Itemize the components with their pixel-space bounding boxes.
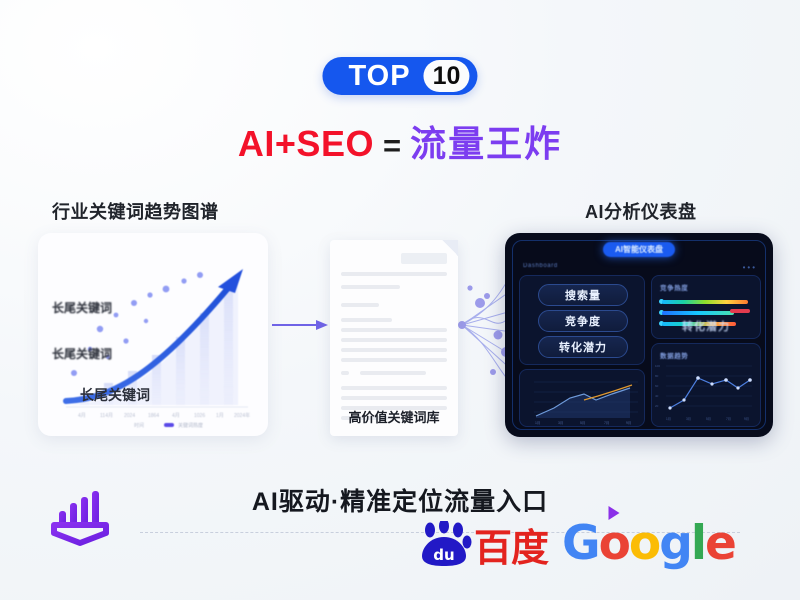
- svg-text:1月: 1月: [535, 421, 540, 425]
- baidu-logo: du 百度: [418, 521, 548, 567]
- top-badge-word: TOP: [348, 62, 423, 91]
- gauge-alert-chip: [730, 309, 750, 313]
- headline-left: AI+SEO: [238, 123, 374, 164]
- line-panel-title: 数据趋势: [660, 350, 688, 360]
- svg-text:9月: 9月: [744, 417, 749, 421]
- keyword-library-doc-card: 高价值关键词库: [330, 240, 458, 436]
- metric-pill-competition[interactable]: 竞争度: [538, 310, 628, 332]
- doc-skeleton-lines: [341, 272, 447, 426]
- google-letter-o1-wrap: o: [599, 520, 629, 567]
- metric-pills-panel: 搜索量 竞争度 转化潜力: [519, 275, 645, 365]
- gauge-bar-2: [662, 311, 734, 315]
- svg-text:80: 80: [655, 374, 659, 378]
- svg-text:100: 100: [655, 364, 660, 368]
- dashboard-brand-label: Dashboard: [523, 263, 558, 269]
- svg-text:关键词热度: 关键词热度: [178, 422, 203, 429]
- right-section-caption: AI分析仪表盘: [585, 198, 697, 224]
- search-engine-logos: du 百度 G o o g l e: [418, 520, 735, 567]
- arrow-chart-to-doc: [272, 320, 328, 330]
- play-triangle-icon: [608, 506, 619, 520]
- trend-chart-graphic: 4月114月 20241864 4月1026 1月2024年 时间 关键词热度: [38, 233, 268, 436]
- google-letter-g: g: [659, 520, 691, 567]
- svg-text:7月: 7月: [726, 417, 731, 421]
- metric-pill-search-volume[interactable]: 搜索量: [538, 284, 628, 306]
- keyword-label: 长尾关键词: [80, 385, 150, 405]
- dashboard-title-badge: AI智能仪表盘: [603, 242, 675, 257]
- svg-text:5月: 5月: [706, 417, 711, 421]
- svg-text:1864: 1864: [148, 413, 159, 419]
- svg-text:40: 40: [655, 394, 659, 398]
- google-letter-e: e: [705, 520, 735, 567]
- traffic-trend-panel: 1月3月 5月7月9月: [519, 369, 645, 427]
- svg-text:5月: 5月: [580, 421, 585, 425]
- headline-equals: =: [374, 128, 410, 163]
- svg-text:时间: 时间: [134, 422, 144, 429]
- left-section-caption: 行业关键词趋势图谱: [52, 198, 219, 224]
- svg-text:9月: 9月: [626, 421, 631, 425]
- metric-pill-conversion[interactable]: 转化潜力: [538, 336, 628, 358]
- svg-text:4月: 4月: [78, 413, 86, 419]
- baidu-paw-icon: du: [418, 521, 472, 567]
- gauge-panel-title: 竞争热度: [660, 282, 688, 292]
- doc-card-caption: 高价值关键词库: [330, 407, 458, 426]
- svg-text:114月: 114月: [100, 413, 113, 419]
- competition-gauge-panel: 竞争热度 转化潜力: [651, 275, 761, 339]
- google-letter-G: G: [562, 520, 599, 567]
- svg-text:4月: 4月: [172, 413, 180, 419]
- headline-right: 流量王炸: [410, 123, 562, 164]
- top-rank-badge: TOP 10: [322, 57, 477, 95]
- svg-text:60: 60: [655, 384, 659, 388]
- keyword-trend-chart-card: 4月114月 20241864 4月1026 1月2024年 时间 关键词热度 …: [38, 233, 268, 436]
- svg-text:3月: 3月: [558, 421, 563, 425]
- google-logo: G o o g l e: [562, 520, 735, 567]
- svg-text:7月: 7月: [604, 421, 609, 425]
- ai-dashboard-card: AI智能仪表盘 Dashboard ••• 搜索量 竞争度 转化潜力 1月3月 …: [505, 233, 773, 437]
- svg-text:2024年: 2024年: [234, 412, 250, 419]
- baidu-logo-text: 百度: [474, 532, 548, 567]
- svg-text:1026: 1026: [194, 413, 205, 419]
- dashboard-menu-icon[interactable]: •••: [743, 263, 757, 272]
- top-badge-number: 10: [424, 60, 470, 92]
- google-letter-o1: o: [599, 516, 629, 571]
- svg-text:20: 20: [655, 404, 659, 408]
- svg-text:1月: 1月: [216, 413, 224, 419]
- baidu-du-text: du: [433, 546, 454, 564]
- bottom-tagline: AI驱动·精准定位流量入口: [0, 482, 800, 518]
- analytics-pedestal-icon: [48, 487, 118, 549]
- svg-text:3月: 3月: [686, 417, 691, 421]
- keyword-label: 长尾关键词: [52, 345, 112, 362]
- keyword-label: 长尾关键词: [52, 299, 112, 316]
- google-letter-l: l: [691, 520, 705, 567]
- data-trend-panel: 数据趋势 1月3月 5月7月9月 10080 604020: [651, 343, 761, 427]
- gauge-bar-1: [662, 300, 748, 304]
- traffic-sparkline-graphic: 1月3月 5月7月9月: [520, 370, 644, 426]
- gauge-panel-caption: 转化潜力: [652, 318, 760, 334]
- svg-text:1月: 1月: [666, 417, 671, 421]
- svg-text:2024: 2024: [124, 413, 135, 419]
- page-title: AI+SEO=流量王炸: [0, 126, 800, 162]
- google-letter-o2: o: [629, 520, 659, 567]
- doc-header-chip: [401, 253, 447, 264]
